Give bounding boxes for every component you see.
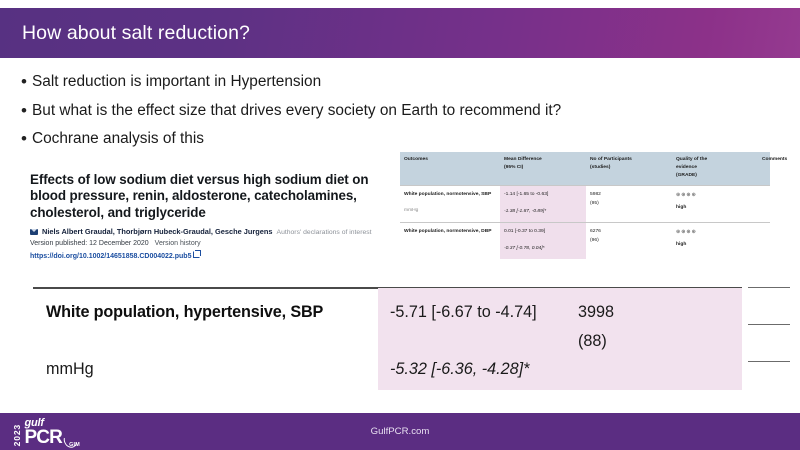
- logo-year: 2023: [12, 424, 22, 446]
- callout-mean-difference-adjusted: -5.32 [-6.36, -4.28]*: [390, 360, 529, 379]
- logo-arc-icon: GIM: [63, 432, 78, 447]
- table-row: White population, normotensive, DBP 0.01…: [400, 222, 770, 259]
- external-link-icon: [193, 251, 200, 258]
- review-title: Effects of low sodium diet versus high s…: [30, 172, 380, 221]
- grade-rating: high: [676, 241, 754, 250]
- callout-mean-difference: -5.71 [-6.67 to -4.74]: [390, 303, 537, 322]
- bullet-text: Cochrane analysis of this: [32, 129, 204, 148]
- studies-count: (95): [590, 200, 668, 209]
- cell-quality: ⊕⊕⊕⊕ high: [672, 186, 758, 222]
- callout-right-rule-2: [748, 324, 790, 325]
- summary-of-findings-table: Outcomes Mean Difference (95% CI) No of …: [400, 152, 770, 259]
- logo-wordmark: gulf PCR GIM: [25, 418, 78, 447]
- callout-right-rule-3: [748, 361, 790, 362]
- cell-participants: 5982 (95): [586, 186, 672, 222]
- version-line: Version published: 12 December 2020 Vers…: [30, 240, 380, 247]
- list-item: • Cochrane analysis of this: [16, 129, 786, 148]
- column-header-quality-l3: (GRADE): [676, 172, 754, 180]
- grade-rating: high: [676, 204, 754, 213]
- column-header-mean-difference-sub: (95% CI): [504, 164, 582, 172]
- declarations-link[interactable]: Authors' declarations of interest: [277, 229, 372, 236]
- slide-title-bar: How about salt reduction?: [0, 8, 800, 58]
- column-header-quality-l2: evidence: [676, 164, 754, 172]
- version-history-link[interactable]: Version history: [155, 240, 201, 247]
- grade-dots-icon: ⊕⊕⊕⊕: [676, 192, 697, 198]
- version-published: Version published: 12 December 2020: [30, 240, 149, 247]
- outcome-label: White population, normotensive, DBP: [404, 229, 492, 234]
- table-row: White population, normotensive, SBP mmHg…: [400, 185, 770, 222]
- cochrane-citation-block: Effects of low sodium diet versus high s…: [30, 172, 380, 260]
- table-header-row: Outcomes Mean Difference (95% CI) No of …: [400, 152, 770, 185]
- footer-bar: GulfPCR.com: [0, 413, 800, 450]
- cell-quality: ⊕⊕⊕⊕ high: [672, 223, 758, 259]
- cell-mean-difference: -1.14 [-1.65 to -0.63] -1.38 [-1.87, -0.…: [500, 186, 586, 222]
- outcome-unit: mmHg: [404, 207, 496, 216]
- column-header-participants-sub: (studies): [590, 164, 668, 172]
- mean-difference-adjusted: -0.37 [-0.78, 0.04]*: [504, 245, 582, 254]
- callout-outcome-label: White population, hypertensive, SBP: [46, 303, 323, 322]
- bullet-dot-icon: •: [16, 101, 32, 120]
- envelope-icon: [30, 229, 38, 235]
- callout-participants-count: 3998: [578, 303, 614, 322]
- cell-comments: [758, 223, 770, 259]
- bullet-list: • Salt reduction is important in Hyperte…: [16, 72, 786, 158]
- cell-mean-difference: 0.01 [-0.37 to 0.39] -0.37 [-0.78, 0.04]…: [500, 223, 586, 259]
- column-header-mean-difference: Mean Difference (95% CI): [500, 156, 586, 180]
- cell-outcome: White population, normotensive, SBP mmHg: [400, 186, 500, 222]
- outcome-label: White population, normotensive, SBP: [404, 192, 491, 197]
- participants-count: 5982: [590, 191, 668, 200]
- callout-right-rule-1: [748, 287, 790, 288]
- list-item: • But what is the effect size that drive…: [16, 101, 786, 120]
- logo-bottom-row: PCR GIM: [25, 429, 78, 447]
- cell-outcome: White population, normotensive, DBP: [400, 223, 500, 259]
- callout-studies-count: (88): [578, 332, 607, 351]
- bullet-text: But what is the effect size that drives …: [32, 101, 561, 120]
- participants-count: 6276: [590, 228, 668, 237]
- column-header-participants-main: No of Participants: [590, 156, 668, 164]
- mean-difference-value: -1.14 [-1.65 to -0.63]: [504, 192, 548, 197]
- logo-pcr-text: PCR: [25, 429, 62, 447]
- list-item: • Salt reduction is important in Hyperte…: [16, 72, 786, 91]
- page-title: How about salt reduction?: [0, 22, 250, 45]
- review-authors: Niels Albert Graudal, Thorbjørn Hubeck-G…: [42, 227, 273, 236]
- bullet-text: Salt reduction is important in Hypertens…: [32, 72, 321, 91]
- column-header-outcomes: Outcomes: [400, 156, 500, 180]
- gulfpcr-logo: 2023 gulf PCR GIM: [12, 417, 78, 447]
- grade-dots-icon: ⊕⊕⊕⊕: [676, 229, 697, 235]
- doi-link[interactable]: https://doi.org/10.1002/14651858.CD00402…: [30, 253, 191, 260]
- bullet-dot-icon: •: [16, 72, 32, 91]
- footer-website-url: GulfPCR.com: [0, 413, 800, 450]
- cell-participants: 6276 (96): [586, 223, 672, 259]
- cell-comments: [758, 186, 770, 222]
- logo-gim-text: GIM: [69, 442, 80, 448]
- review-authors-line: Niels Albert Graudal, Thorbjørn Hubeck-G…: [30, 227, 380, 236]
- mean-difference-adjusted: -1.38 [-1.87, -0.89]*: [504, 208, 582, 217]
- mean-difference-value: 0.01 [-0.37 to 0.39]: [504, 229, 545, 234]
- column-header-quality: Quality of the evidence (GRADE): [672, 156, 758, 180]
- bullet-dot-icon: •: [16, 129, 32, 148]
- column-header-mean-difference-main: Mean Difference: [504, 156, 582, 164]
- doi-line[interactable]: https://doi.org/10.1002/14651858.CD00402…: [30, 251, 380, 260]
- column-header-participants: No of Participants (studies): [586, 156, 672, 180]
- callout-outcome-unit: mmHg: [46, 360, 94, 379]
- studies-count: (96): [590, 237, 668, 246]
- column-header-comments: Comments: [758, 156, 791, 180]
- column-header-quality-l1: Quality of the: [676, 156, 754, 164]
